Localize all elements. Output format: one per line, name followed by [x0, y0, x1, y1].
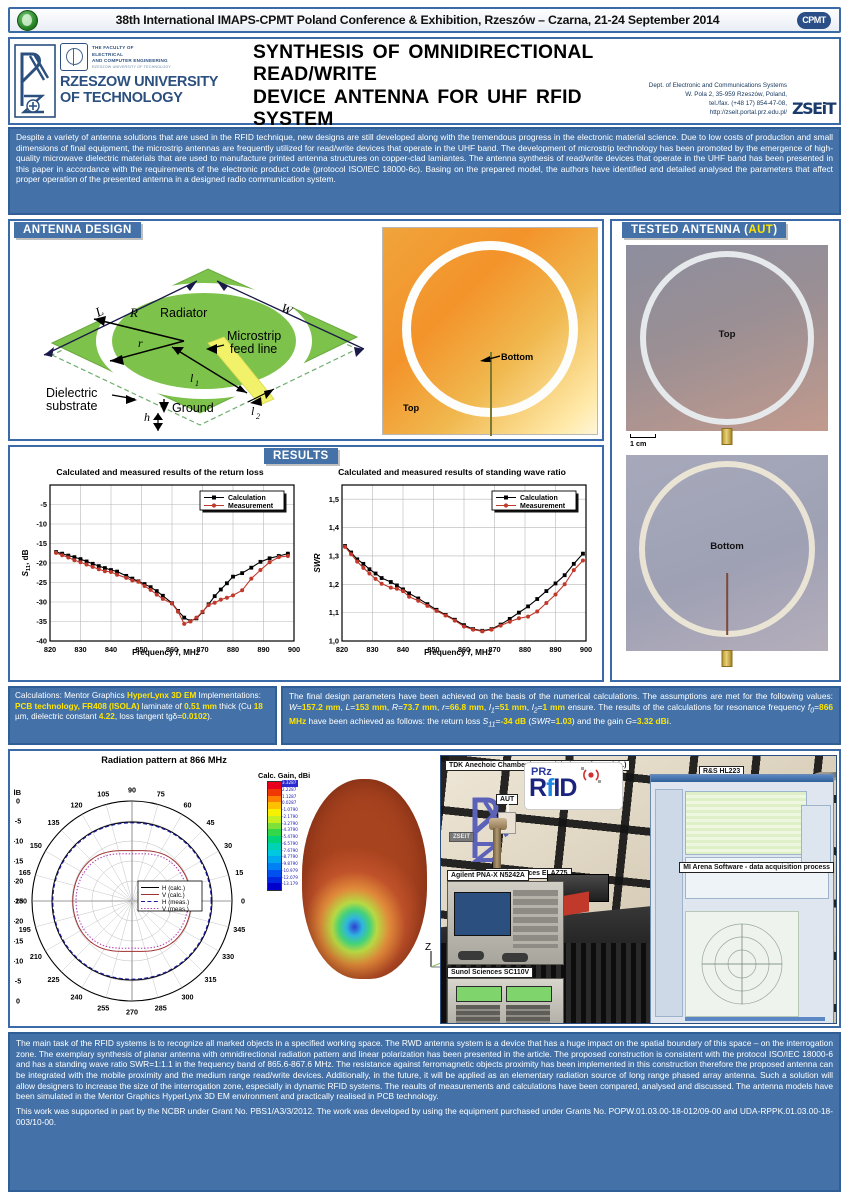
calc-line3-prefix: laminate of [142, 702, 184, 711]
svg-text:-5: -5 [15, 977, 21, 986]
pcb-top-label: Top [403, 403, 419, 413]
calc-line3-mid2: µm, dielectric [15, 712, 63, 721]
gain-color-value: -2.1790 [282, 814, 298, 821]
gain-color-swatch [268, 816, 281, 823]
svg-text:V (meas.): V (meas.) [162, 906, 189, 913]
software-left-toolbar[interactable] [655, 789, 683, 1017]
conclusions-panel: The main task of the RFID systems is to … [8, 1032, 841, 1192]
controller-display-2 [506, 986, 552, 1002]
university-name-line2: OF TECHNOLOGY [60, 90, 245, 106]
software-log-list[interactable] [685, 791, 807, 855]
param-l2: 1 mm [543, 702, 565, 712]
measurements-panel: Radiation pattern at 866 MHz 01530456075… [8, 749, 841, 1028]
svg-text:820: 820 [336, 645, 348, 654]
svg-text:R: R [129, 305, 138, 320]
page-title: SYNTHESIS OF OMNIDIRECTIONAL READ/WRITE … [253, 42, 635, 132]
gain-color-swatch [268, 843, 281, 850]
zseit-logo: ZSEiT [792, 99, 835, 118]
calc-line3-mid: thick (Cu [217, 702, 254, 711]
poster-root: 38th International IMAPS-CPMT Poland Con… [0, 0, 849, 1200]
svg-text:S11, dB: S11, dB [21, 549, 32, 576]
imaps-globe-logo [17, 10, 38, 31]
svg-text:195: 195 [19, 925, 31, 934]
param-l1: 51 mm [500, 702, 527, 712]
svg-text:0: 0 [16, 797, 20, 806]
anechoic-chamber-photo: TDK Anechoic Chamber in EMC lab. (part o… [440, 755, 837, 1024]
param-W: 157.2 mm [302, 702, 341, 712]
svg-text:-5: -5 [15, 817, 21, 826]
controller-keys-2 [506, 1005, 550, 1024]
poster-title-area: SYNTHESIS OF OMNIDIRECTIONAL READ/WRITE … [245, 39, 639, 123]
svg-text:-10: -10 [14, 957, 23, 966]
tested-antenna-suffix: ) [773, 224, 777, 236]
svg-text:15: 15 [235, 868, 243, 877]
svg-text:45: 45 [206, 818, 214, 827]
gain-color-value: -6.5790 [282, 841, 298, 848]
svg-text:Calculated and measured result: Calculated and measured results of the r… [56, 467, 263, 477]
svg-text:Ground: Ground [172, 401, 214, 415]
svg-text:900: 900 [580, 645, 592, 654]
gain-colorbar [267, 781, 282, 891]
svg-text:840: 840 [397, 645, 409, 654]
calc-thickness-value: 0.51 mm [184, 702, 217, 711]
svg-text:0: 0 [241, 897, 245, 906]
antenna-feed-wire [726, 573, 728, 635]
svg-text:-5: -5 [40, 500, 47, 509]
calc-line1-prefix: Calculations: Mentor Graphics [15, 691, 127, 700]
affiliation-line-1: Dept. of Electronic and Communications S… [639, 82, 787, 91]
scale-bar-label: 1 cm [630, 439, 646, 448]
gain-color-swatch [268, 883, 281, 890]
vna-instrument [447, 881, 564, 965]
affiliation-text: Dept. of Electronic and Communications S… [639, 82, 787, 118]
antenna-design-panel: L W R r Radiator Microstrip feed line [8, 219, 604, 441]
abstract-panel: Despite a variety of antenna solutions t… [8, 127, 841, 215]
vna-port-2 [502, 953, 528, 962]
university-identity: THE FACULTY OF ELECTRICAL AND COMPUTER E… [60, 39, 245, 123]
affiliation-block: Dept. of Electronic and Communications S… [639, 39, 839, 123]
gain-color-swatch [268, 856, 281, 863]
param-G: 3.32 dBi [637, 716, 669, 726]
gain-color-swatch [268, 823, 281, 830]
svg-text:1,4: 1,4 [329, 523, 340, 532]
svg-text:-35: -35 [36, 617, 47, 626]
svg-text:890: 890 [257, 645, 269, 654]
svg-text:345: 345 [233, 925, 245, 934]
calc-line2-highlight: PCB technology, FR408 (ISOLA) [15, 702, 140, 711]
svg-text:285: 285 [155, 1004, 167, 1013]
pcb-feed-line [490, 352, 492, 436]
svg-text:30: 30 [224, 841, 232, 850]
gain-color-swatch [268, 877, 281, 884]
svg-text:-20: -20 [14, 877, 23, 886]
software-label: MI Arena Software - data acquisition pro… [679, 862, 834, 873]
svg-text:330: 330 [222, 952, 234, 961]
abstract-text: Despite a variety of antenna solutions t… [16, 132, 833, 184]
gain-color-swatch [268, 802, 281, 809]
svg-text:1,5: 1,5 [329, 495, 339, 504]
tested-antenna-panel: Top 1 cm Bottom [610, 219, 841, 682]
svg-text:-10: -10 [36, 520, 47, 529]
gain-color-value: -9.8790 [282, 861, 298, 868]
conference-bar: 38th International IMAPS-CPMT Poland Con… [8, 7, 841, 33]
svg-text:240: 240 [71, 993, 83, 1002]
antenna-geometry-diagram: L W R r Radiator Microstrip feed line [12, 237, 384, 437]
software-progressbar [685, 1017, 825, 1021]
svg-text:880: 880 [227, 645, 239, 654]
scale-bar-line [630, 434, 656, 438]
return-loss-chart: Calculated and measured results of the r… [18, 463, 302, 675]
svg-text:-15: -15 [14, 857, 23, 866]
swr-chart: Calculated and measured results of stand… [310, 463, 594, 675]
svg-text:2: 2 [256, 412, 260, 421]
svg-text:300: 300 [182, 993, 194, 1002]
svg-text:Frequency f, MHz: Frequency f, MHz [424, 648, 492, 657]
svg-text:Calculated and measured result: Calculated and measured results of stand… [338, 467, 566, 477]
svg-text:-15: -15 [36, 539, 47, 548]
rfid-letter-d: D [559, 774, 576, 802]
gain-color-swatch [268, 850, 281, 857]
svg-text:270: 270 [126, 1008, 138, 1017]
svg-text:Dielectric: Dielectric [46, 386, 97, 400]
svg-text:Calculation: Calculation [520, 495, 558, 502]
faculty-emblem-icon [60, 43, 88, 71]
antenna-bottom-label: Bottom [710, 541, 744, 552]
vna-screen [454, 892, 511, 936]
gain-color-swatch [268, 863, 281, 870]
gain-color-value: -7.6790 [282, 848, 298, 855]
vna-port-1 [458, 951, 484, 960]
gain-color-value: -8.7790 [282, 854, 298, 861]
software-polar-plot [685, 911, 799, 1017]
svg-text:-25: -25 [36, 578, 47, 587]
zseit-wall-tag: ZSEiT [449, 832, 474, 842]
antenna-top-label: Top [719, 329, 736, 340]
svg-text:SWR: SWR [313, 553, 322, 572]
svg-text:-10: -10 [14, 837, 23, 846]
conclusion-paragraph-2: This work was supported in part by the N… [16, 1106, 833, 1127]
svg-text:820: 820 [44, 645, 56, 654]
svg-text:880: 880 [519, 645, 531, 654]
svg-text:890: 890 [549, 645, 561, 654]
section-header-tested-antenna: TESTED ANTENNA (AUT) [622, 222, 786, 238]
gain-color-value: -4.3790 [282, 827, 298, 834]
gain-color-value: 1.1287 [282, 794, 298, 801]
svg-text:120: 120 [71, 800, 83, 809]
svg-text:l: l [251, 404, 255, 418]
pcb-render-image: Bottom Top [382, 227, 598, 435]
svg-text:90: 90 [128, 786, 136, 795]
sma-connector-bottom [722, 650, 733, 667]
calc-line4-prefix: constant [66, 712, 99, 721]
gain-color-value: -5.4790 [282, 834, 298, 841]
svg-text:Measurement: Measurement [520, 503, 566, 510]
gain-color-swatch [268, 836, 281, 843]
gain-color-value: 0.0287 [282, 800, 298, 807]
svg-text:r: r [138, 336, 143, 350]
antenna-photo-top: Top [626, 245, 828, 431]
university-name-line1: RZESZOW UNIVERSITY [60, 74, 245, 90]
svg-text:substrate: substrate [46, 399, 97, 413]
gain-color-swatch [268, 870, 281, 877]
svg-text:1,3: 1,3 [329, 552, 339, 561]
mi-arena-software-screenshot [650, 774, 834, 1024]
gain-colorbar-title: Calc. Gain, dBi [258, 771, 310, 780]
svg-text:1,1: 1,1 [329, 608, 339, 617]
param-S11: -34 dB [500, 716, 526, 726]
svg-text:0: 0 [16, 997, 20, 1006]
calc-line1-highlight: HyperLynx 3D EM [127, 691, 196, 700]
faculty-line-3: AND COMPUTER ENGINEERING [92, 58, 171, 65]
vna-label: Agilent PNA-X N5242A [447, 870, 529, 881]
calc-line2-prefix: Implementations: [199, 691, 261, 700]
svg-text:V (calc.): V (calc.) [162, 892, 185, 899]
gain-color-swatch [268, 829, 281, 836]
svg-text:-20: -20 [36, 559, 47, 568]
svg-text:-40: -40 [36, 637, 47, 646]
tested-antenna-aut: AUT [748, 224, 773, 236]
svg-text:Measurement: Measurement [228, 503, 274, 510]
conference-title: 38th International IMAPS-CPMT Poland Con… [38, 13, 797, 27]
calc-line4-mid: , loss tangent tgδ= [115, 712, 182, 721]
svg-text:60: 60 [184, 800, 192, 809]
prz-logo-icon [10, 39, 60, 123]
przrfid-logo: PRz RfID [524, 762, 623, 810]
calc-tand-value: 0.0102 [182, 712, 207, 721]
pcb-bottom-label: Bottom [501, 352, 533, 362]
positioner-controller [447, 978, 564, 1024]
param-r: 66.8 mm [450, 702, 484, 712]
svg-text:165: 165 [19, 868, 31, 877]
antenna-photo-bottom: Bottom [626, 455, 828, 651]
radiation-pattern-plot: 0153045607590105120135150165180195210225… [14, 763, 260, 1023]
svg-text:-20: -20 [14, 917, 23, 926]
calculations-box: Calculations: Mentor Graphics HyperLynx … [8, 686, 277, 745]
svg-text:H (meas.): H (meas.) [162, 899, 189, 906]
svg-text:-25: -25 [14, 897, 23, 906]
calc-epsilon-value: 4.22 [99, 712, 115, 721]
3d-radiation-lobe [302, 779, 427, 979]
svg-text:210: 210 [30, 952, 42, 961]
scale-bar: 1 cm [630, 434, 656, 448]
controller-label: Sunol Sciences SC110V [447, 967, 533, 978]
svg-text:Calculation: Calculation [228, 495, 266, 502]
gain-color-swatch [268, 796, 281, 803]
svg-text:h: h [144, 410, 150, 424]
section-header-results: RESULTS [264, 448, 338, 464]
gain-color-value: -10.979 [282, 868, 298, 875]
svg-text:Z: Z [425, 942, 431, 953]
gain-color-swatch [268, 789, 281, 796]
svg-text:1: 1 [195, 379, 199, 388]
svg-text:900: 900 [288, 645, 300, 654]
gain-colorbar-labels: 3.32872.22871.12870.0287-1.0790-2.1790-3… [282, 780, 298, 888]
title-line-2: DEVICE ANTENNA FOR UHF RFID SYSTEM [253, 87, 582, 130]
gain-color-value: 3.3287 [282, 780, 298, 787]
gain-color-value: -1.0790 [282, 807, 298, 814]
vna-keypad [513, 890, 558, 948]
title-block: THE FACULTY OF ELECTRICAL AND COMPUTER E… [8, 37, 841, 125]
svg-text:255: 255 [97, 1004, 109, 1013]
svg-text:feed line: feed line [230, 342, 277, 356]
svg-text:830: 830 [366, 645, 378, 654]
affiliation-line-2: W. Pola 2, 35-959 Rzeszów, Poland, [639, 91, 787, 100]
svg-text:1,0: 1,0 [329, 637, 339, 646]
svg-text:-15: -15 [14, 937, 23, 946]
param-L: 153 mm [355, 702, 387, 712]
svg-text:1,2: 1,2 [329, 580, 339, 589]
cpmt-logo: CPMT [797, 12, 831, 29]
svg-text:225: 225 [48, 975, 60, 984]
svg-text:75: 75 [157, 789, 165, 798]
controller-keys-1 [456, 1005, 500, 1024]
sma-connector-top [722, 428, 733, 445]
controller-display-1 [456, 986, 502, 1002]
title-line-1: SYNTHESIS OF OMNIDIRECTIONAL READ/WRITE [253, 42, 593, 85]
gain-color-value: -13.179 [282, 881, 298, 888]
gain-color-swatch [268, 782, 281, 789]
parameters-box: The final design parameters have been ac… [281, 686, 841, 745]
software-titlebar [651, 775, 833, 782]
section-header-antenna-design: ANTENNA DESIGN [14, 222, 141, 238]
svg-text:135: 135 [48, 818, 60, 827]
param-R: 73.7 mm [403, 702, 437, 712]
gain-color-value: 2.2287 [282, 787, 298, 794]
svg-text:840: 840 [105, 645, 117, 654]
rfid-letter-r: R [529, 774, 546, 802]
calc-cu-value: 18 [254, 702, 263, 711]
param-SWR: 1.03 [556, 716, 572, 726]
svg-text:830: 830 [74, 645, 86, 654]
affiliation-line-3: tel./fax. (+48 17) 854-47-08, http://zse… [639, 100, 787, 118]
conclusion-paragraph-1: The main task of the RFID systems is to … [16, 1038, 833, 1102]
gain-color-value: -12.079 [282, 875, 298, 882]
rf-wave-icon [581, 767, 601, 784]
bottom-pointer-arrow [478, 354, 500, 362]
svg-text:Microstrip: Microstrip [227, 329, 281, 343]
tested-antenna-prefix: TESTED ANTENNA ( [631, 224, 748, 236]
svg-text:315: 315 [204, 975, 216, 984]
faculty-line-4: RZESZOW UNIVERSITY OF TECHNOLOGY [92, 65, 171, 70]
svg-text:150: 150 [30, 841, 42, 850]
svg-text:H (calc.): H (calc.) [162, 885, 185, 892]
svg-text:-30: -30 [36, 598, 47, 607]
svg-text:Radiator: Radiator [160, 306, 207, 320]
svg-text:Frequency f, MHz: Frequency f, MHz [132, 648, 200, 657]
przrfid-rfid-text: RfID [529, 774, 576, 803]
results-panel: Calculated and measured results of the r… [8, 445, 604, 682]
svg-text:105: 105 [97, 789, 109, 798]
calc-line4-suffix: ). [207, 712, 212, 721]
gain-color-swatch [268, 809, 281, 816]
faculty-name: THE FACULTY OF ELECTRICAL AND COMPUTER E… [92, 43, 171, 70]
gain-color-value: -3.2790 [282, 821, 298, 828]
software-right-buttons[interactable] [801, 805, 831, 863]
